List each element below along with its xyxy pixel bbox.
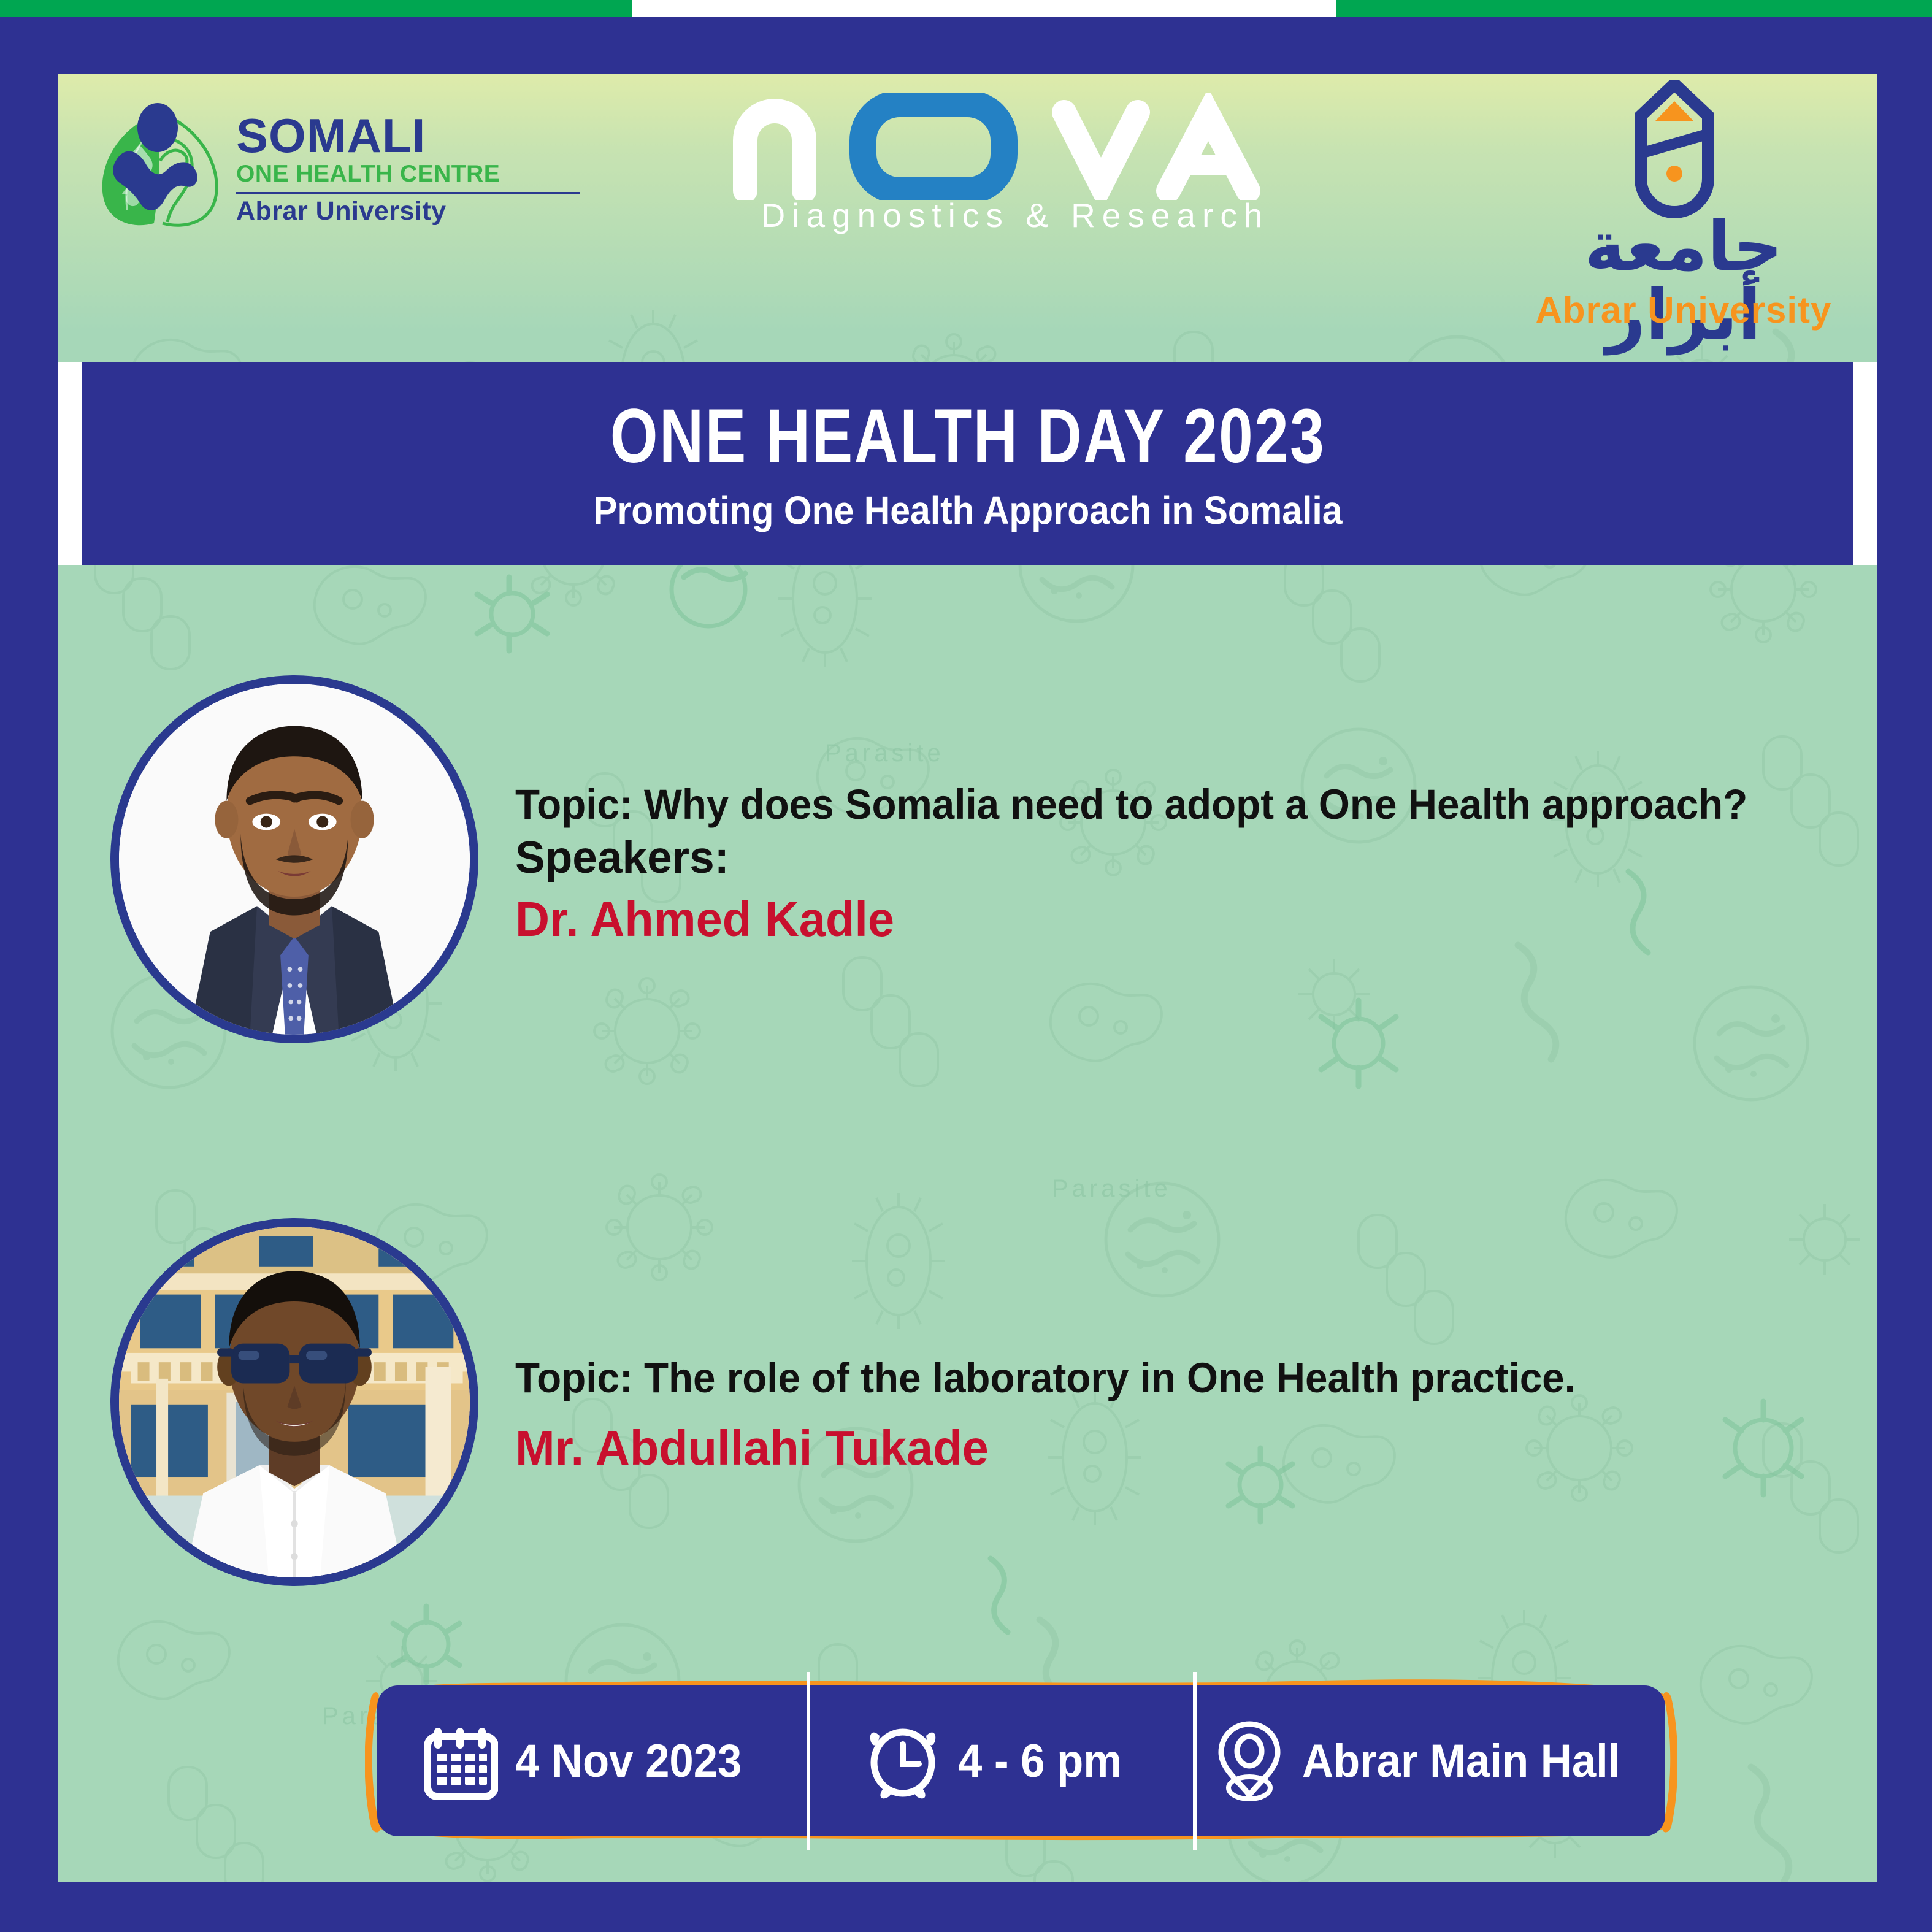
logo-row: SOMALI ONE HEALTH CENTRE Abrar Universit… xyxy=(58,74,1877,362)
top-green-strip xyxy=(0,0,1932,17)
alarm-clock-icon xyxy=(865,1720,941,1802)
speaker-block-2: Topic: The role of the laboratory in One… xyxy=(58,1212,1877,1641)
event-date-text: 4 Nov 2023 xyxy=(515,1735,742,1788)
sohc-divider xyxy=(236,192,580,194)
abrar-emblem-icon xyxy=(1616,80,1733,221)
sohc-emblem-icon xyxy=(95,102,227,234)
speaker-1-avatar xyxy=(110,675,478,1043)
sohc-line-university: Abrar University xyxy=(236,196,580,226)
top-white-tab xyxy=(632,0,1336,17)
title-banner: ONE HEALTH DAY 2023 Promoting One Health… xyxy=(82,362,1853,565)
event-info-panel: 4 Nov 2023 4 - 6 pm xyxy=(377,1685,1665,1836)
abrar-university-logo: جامعة أبرار Abrar University xyxy=(1518,80,1849,338)
poster-navy-frame: Parasite Parasite Parasite Parasite Para… xyxy=(0,17,1932,1932)
somali-one-health-centre-logo: SOMALI ONE HEALTH CENTRE Abrar Universit… xyxy=(95,102,580,243)
speaker-2-avatar xyxy=(110,1218,478,1586)
info-divider-1 xyxy=(807,1672,810,1850)
event-subtitle: Promoting One Health Approach in Somalia xyxy=(593,491,1342,530)
event-time-cell: 4 - 6 pm xyxy=(807,1685,1193,1836)
speaker-2-name: Mr. Abdullahi Tukade xyxy=(515,1419,1800,1478)
speaker-block-1: Topic: Why does Somalia need to adopt a … xyxy=(58,663,1877,1092)
speaker-1-portrait xyxy=(119,684,470,1035)
nova-wordmark-icon xyxy=(721,93,1309,200)
abrar-english-name: Abrar University xyxy=(1518,289,1849,331)
title-accent-bar-left xyxy=(58,362,82,565)
event-date-cell: 4 Nov 2023 xyxy=(377,1685,807,1836)
event-title: ONE HEALTH DAY 2023 xyxy=(610,398,1325,475)
sohc-line-somali: SOMALI xyxy=(236,113,580,158)
nova-diagnostics-logo: Diagnostics & Research xyxy=(721,93,1309,246)
calendar-icon xyxy=(424,1722,498,1800)
title-accent-bar-right xyxy=(1853,362,1877,565)
event-venue-text: Abrar Main Hall xyxy=(1302,1735,1620,1788)
event-venue-cell: Abrar Main Hall xyxy=(1193,1685,1665,1836)
speakers-label: Speakers: xyxy=(515,832,1840,884)
event-time-text: 4 - 6 pm xyxy=(958,1735,1122,1788)
pattern-watermark: Parasite xyxy=(1052,1175,1171,1202)
speaker-2-text: Topic: The role of the laboratory in One… xyxy=(515,1353,1840,1478)
event-info-bar: 4 Nov 2023 4 - 6 pm xyxy=(365,1672,1677,1850)
nova-tagline: Diagnostics & Research xyxy=(721,196,1309,235)
speaker-1-text: Topic: Why does Somalia need to adopt a … xyxy=(515,780,1840,949)
info-divider-2 xyxy=(1193,1672,1197,1850)
speaker-1-name: Dr. Ahmed Kadle xyxy=(515,890,1800,949)
speaker-2-portrait xyxy=(119,1227,470,1577)
location-pin-icon xyxy=(1214,1719,1285,1803)
speaker-1-topic: Topic: Why does Somalia need to adopt a … xyxy=(515,780,1774,829)
poster-body: Parasite Parasite Parasite Parasite Para… xyxy=(58,74,1877,1882)
sohc-line-centre: ONE HEALTH CENTRE xyxy=(236,161,580,188)
speaker-2-topic: Topic: The role of the laboratory in One… xyxy=(515,1353,1774,1403)
